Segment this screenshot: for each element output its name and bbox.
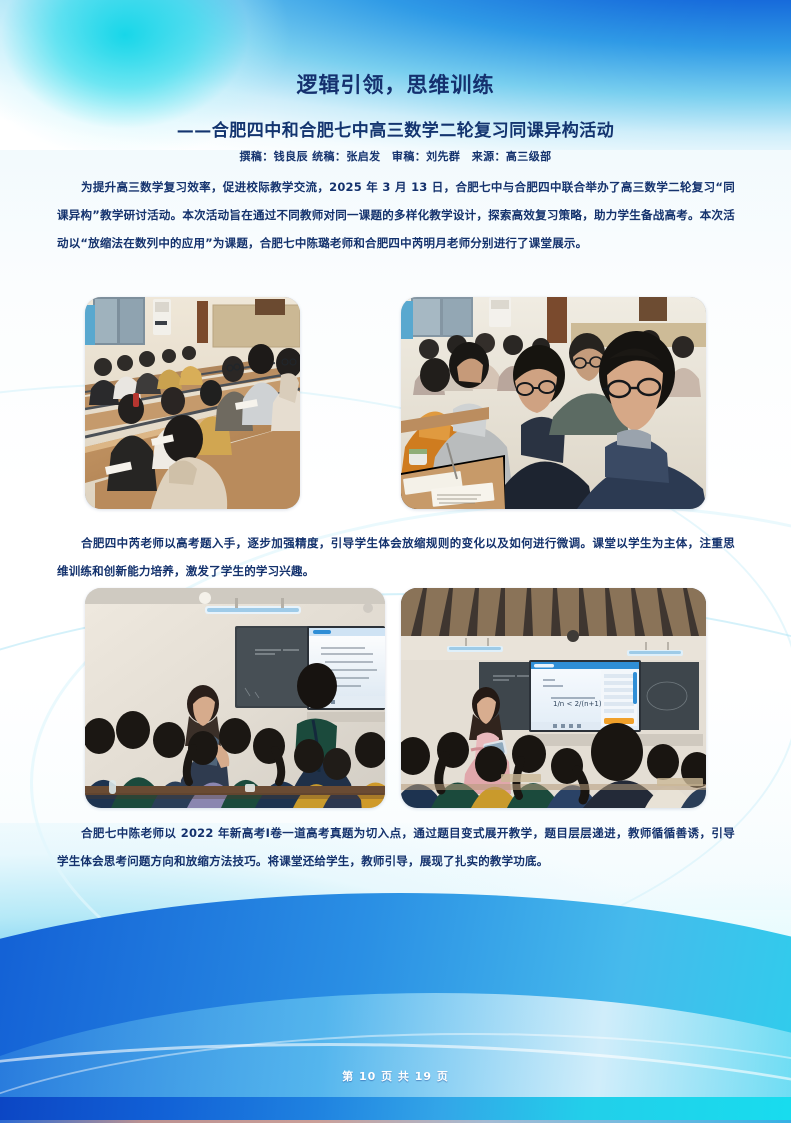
document-content: 逻辑引领，思维训练 ——合肥四中和合肥七中高三数学二轮复习同课异构活动 撰稿：钱… bbox=[0, 0, 791, 1123]
intro-paragraph: 为提升高三数学复习效率，促进校际教学交流，2025 年 3 月 13 日，合肥七… bbox=[57, 173, 735, 257]
photo-classroom-teacher-a bbox=[85, 588, 385, 808]
page-subtitle: ——合肥四中和合肥七中高三数学二轮复习同课异构活动 bbox=[0, 116, 791, 141]
photo-classroom-teacher-b: 1/n < 2/(n+1) bbox=[401, 588, 706, 808]
page-title: 逻辑引领，思维训练 bbox=[0, 69, 791, 99]
caption-paragraph-1: 合肥四中芮老师以高考题入手，逐步加强精度，引导学生体会放缩规则的变化以及如何进行… bbox=[57, 529, 735, 585]
byline-credits: 撰稿：钱良辰 统稿：张启发 审稿：刘先群 来源：高三级部 bbox=[0, 148, 791, 164]
page-canvas: 逻辑引领，思维训练 ——合肥四中和合肥七中高三数学二轮复习同课异构活动 撰稿：钱… bbox=[0, 0, 791, 1123]
page-number-footer: 第 10 页 共 19 页 bbox=[0, 1068, 791, 1084]
photo-audience-side-view bbox=[85, 297, 300, 509]
photo-audience-side-view-art bbox=[85, 297, 300, 509]
svg-text:1/n < 2/(n+1): 1/n < 2/(n+1) bbox=[553, 700, 602, 708]
photo-audience-front-view bbox=[401, 297, 706, 509]
photo-audience-front-view-art bbox=[401, 297, 706, 509]
photo-classroom-teacher-b-art: 1/n < 2/(n+1) bbox=[401, 588, 706, 808]
photo-classroom-teacher-a-art bbox=[85, 588, 385, 808]
caption-paragraph-2: 合肥七中陈老师以 2022 年新高考Ⅰ卷一道高考真题为切入点，通过题目变式展开教… bbox=[57, 819, 735, 875]
